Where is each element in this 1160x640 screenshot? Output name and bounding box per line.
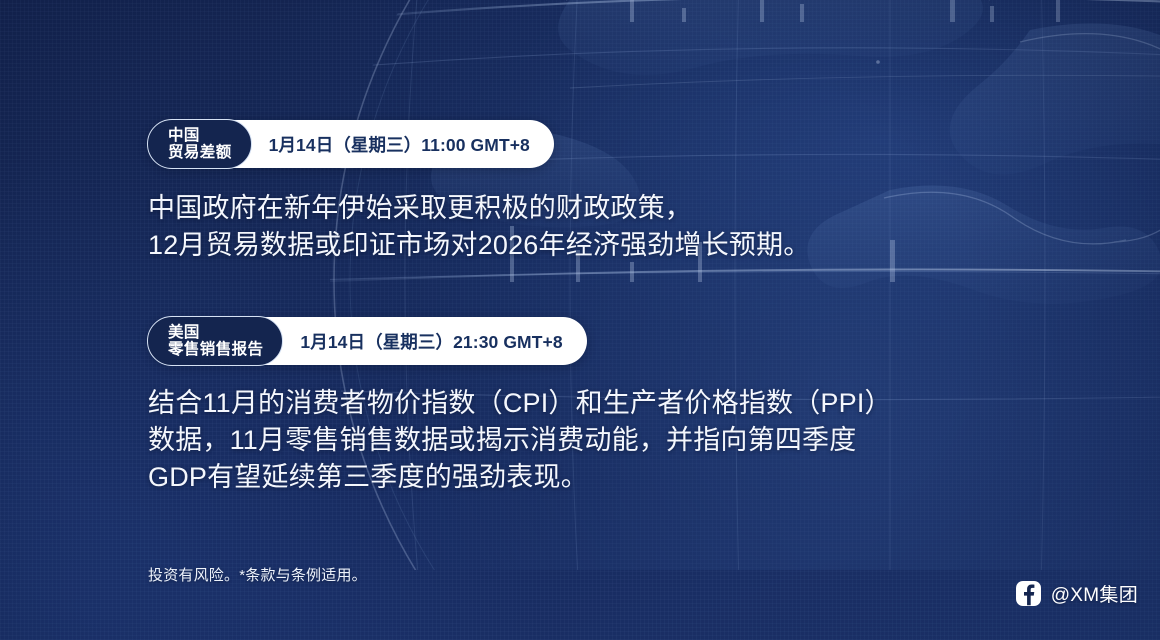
event-pill-us-retail-sales[interactable]: 美国 零售销售报告 1月14日（星期三）21:30 GMT+8 [148, 317, 587, 365]
event-badge-line2: 零售销售报告 [168, 341, 263, 358]
social-handle-label: @XM集团 [1051, 580, 1138, 607]
social-handle-group[interactable]: @XM集团 [1016, 580, 1138, 607]
event-badge: 中国 贸易差额 [147, 119, 252, 169]
event-badge-line2: 贸易差额 [168, 144, 232, 161]
event-description-china: 中国政府在新年伊始采取更积极的财政政策， 12月贸易数据或印证市场对2026年经… [148, 190, 811, 264]
facebook-icon[interactable] [1016, 581, 1041, 606]
event-pill-china-trade-balance[interactable]: 中国 贸易差额 1月14日（星期三）11:00 GMT+8 [148, 120, 554, 168]
promo-banner: 中国 贸易差额 1月14日（星期三）11:00 GMT+8 中国政府在新年伊始采… [0, 0, 1160, 640]
disclaimer-text: 投资有风险。*条款与条例适用。 [148, 566, 367, 586]
event-datetime: 1月14日（星期三）11:00 GMT+8 [252, 120, 554, 168]
event-datetime: 1月14日（星期三）21:30 GMT+8 [283, 317, 586, 365]
event-description-us: 结合11月的消费者物价指数（CPI）和生产者价格指数（PPI） 数据，11月零售… [148, 385, 892, 496]
event-badge-line1: 中国 [168, 127, 200, 144]
event-badge-line1: 美国 [168, 324, 200, 341]
content-area: 中国 贸易差额 1月14日（星期三）11:00 GMT+8 中国政府在新年伊始采… [0, 0, 1160, 640]
event-badge: 美国 零售销售报告 [147, 316, 283, 366]
